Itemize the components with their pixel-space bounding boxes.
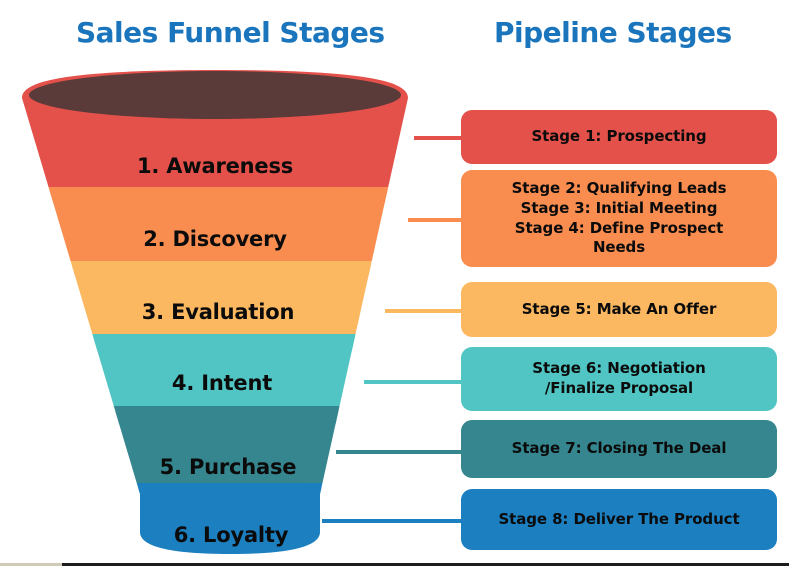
funnel-label-4: 4. Intent <box>172 371 272 395</box>
pipeline-box-3-label: Stage 5: Make An Offer <box>522 300 717 320</box>
bottom-divider-left <box>0 563 62 566</box>
funnel-label-6: 6. Loyalty <box>174 523 289 547</box>
pipeline-stages-list: Stage 1: Prospecting Stage 2: Qualifying… <box>461 0 789 574</box>
sales-funnel-graphic: 1. Awareness 2. Discovery 3. Evaluation … <box>0 62 460 562</box>
pipeline-box-6-label: Stage 8: Deliver The Product <box>498 510 739 530</box>
bottom-divider-right <box>62 563 789 566</box>
funnel-label-3: 3. Evaluation <box>142 300 294 324</box>
funnel-label-2: 2. Discovery <box>143 227 286 251</box>
pipeline-box-3[interactable]: Stage 5: Make An Offer <box>461 282 777 337</box>
diagram-canvas: Sales Funnel Stages Pipeline Stages <box>0 0 789 574</box>
pipeline-box-2-label: Stage 2: Qualifying Leads Stage 3: Initi… <box>512 179 727 258</box>
pipeline-box-2[interactable]: Stage 2: Qualifying Leads Stage 3: Initi… <box>461 170 777 267</box>
pipeline-box-4-label: Stage 6: Negotiation /Finalize Proposal <box>532 359 705 399</box>
pipeline-box-5[interactable]: Stage 7: Closing The Deal <box>461 420 777 478</box>
pipeline-box-1[interactable]: Stage 1: Prospecting <box>461 110 777 164</box>
funnel-mouth <box>29 71 401 119</box>
pipeline-box-1-label: Stage 1: Prospecting <box>531 127 706 147</box>
pipeline-box-5-label: Stage 7: Closing The Deal <box>512 439 727 459</box>
pipeline-box-4[interactable]: Stage 6: Negotiation /Finalize Proposal <box>461 347 777 411</box>
page-title-sales-funnel: Sales Funnel Stages <box>76 16 385 49</box>
bottom-divider <box>0 563 789 566</box>
pipeline-box-6[interactable]: Stage 8: Deliver The Product <box>461 489 777 550</box>
funnel-label-1: 1. Awareness <box>137 154 293 178</box>
funnel-label-5: 5. Purchase <box>160 455 297 479</box>
